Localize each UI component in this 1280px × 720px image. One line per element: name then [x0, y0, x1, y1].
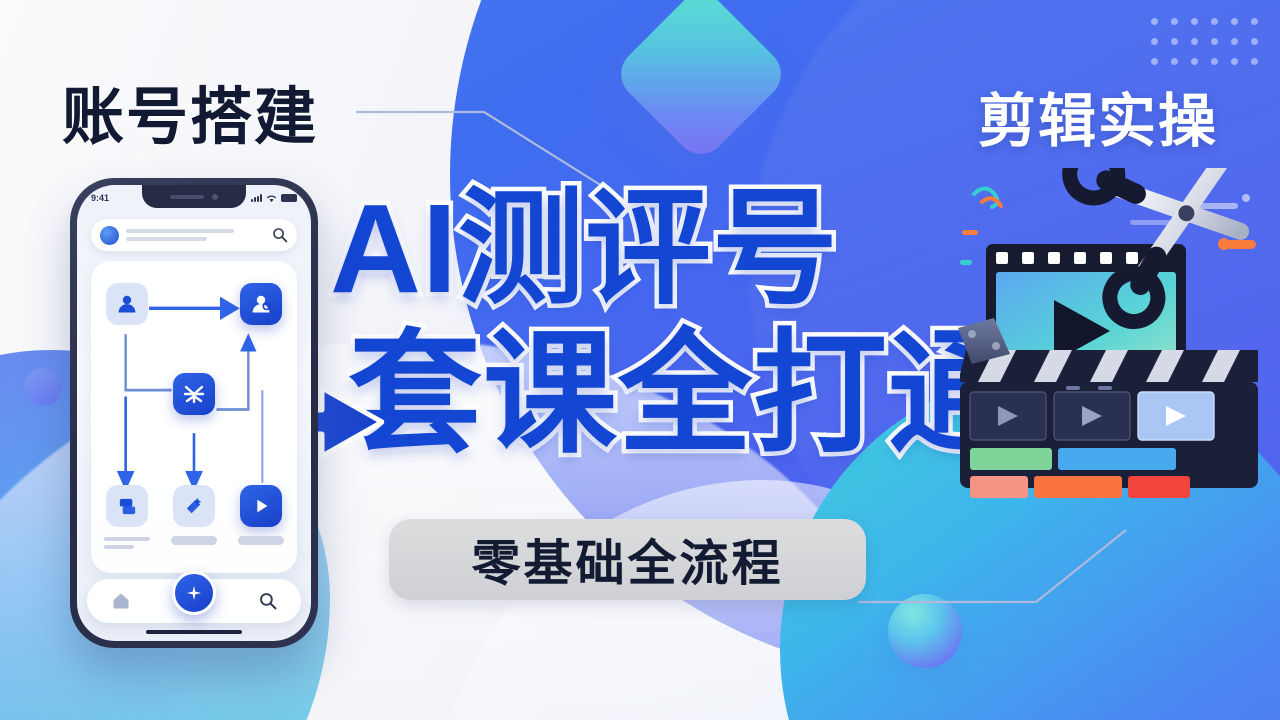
search-icon[interactable]	[272, 227, 288, 243]
badge-editing-practice: 剪辑实操	[978, 74, 1218, 158]
phone-mockup: 9:41	[70, 178, 318, 648]
phone-screen: 9:41	[77, 185, 311, 641]
signal-bars-icon	[251, 194, 262, 202]
network-share-icon	[181, 381, 207, 407]
accent-bar-teal	[960, 260, 972, 265]
small-blue-circle-shape	[24, 368, 62, 406]
wifi-icon	[266, 194, 277, 203]
poster-canvas: 账号搭建 剪辑实操 AI测评号 套课全打通 零基础全流程 9:41	[0, 0, 1280, 720]
timeline-clips	[970, 386, 1214, 440]
home-indicator	[146, 630, 242, 634]
status-icon-group	[251, 194, 297, 203]
video-editing-illustration	[958, 168, 1280, 538]
avatar[interactable]	[100, 226, 119, 245]
accent-pill-orange	[1226, 240, 1256, 249]
badge-account-setup: 账号搭建	[62, 66, 318, 156]
battery-icon	[281, 194, 297, 202]
plus-sparkle-icon	[184, 583, 204, 603]
dot-grid-icon	[1151, 18, 1258, 65]
phone-notch	[142, 185, 246, 208]
publish-node[interactable]	[240, 485, 282, 527]
flow-diagram-card	[91, 261, 297, 573]
accent-dot-white	[1242, 194, 1250, 202]
create-fab[interactable]	[172, 571, 216, 615]
magic-edit-icon	[183, 495, 206, 518]
target-account-node[interactable]	[240, 283, 282, 325]
edit-node[interactable]	[173, 485, 215, 527]
search-placeholder-lines	[126, 229, 265, 241]
front-camera-icon	[212, 194, 218, 200]
accent-swoosh-orange	[982, 198, 1001, 206]
edit-caption-lines	[171, 536, 217, 545]
subtitle-badge: 零基础全流程	[389, 519, 866, 600]
video-editing-graphic	[958, 168, 1280, 538]
subtitle-text: 零基础全流程	[471, 524, 783, 595]
search-input[interactable]	[91, 219, 297, 251]
home-icon[interactable]	[111, 591, 131, 611]
search-icon[interactable]	[259, 592, 277, 610]
play-icon	[250, 495, 272, 517]
person-target-icon	[249, 292, 273, 316]
publish-caption-lines	[238, 536, 284, 545]
user-node[interactable]	[106, 283, 148, 325]
gradient-sphere-shape	[888, 594, 962, 668]
status-time: 9:41	[91, 193, 109, 203]
document-caption-lines	[104, 537, 150, 549]
earpiece-speaker	[170, 195, 204, 199]
person-icon	[115, 292, 139, 316]
accent-bar-orange	[962, 230, 978, 235]
accent-dot-orange	[1218, 238, 1230, 250]
document-icon	[116, 495, 139, 518]
document-node[interactable]	[106, 485, 148, 527]
hub-node[interactable]	[173, 373, 215, 415]
